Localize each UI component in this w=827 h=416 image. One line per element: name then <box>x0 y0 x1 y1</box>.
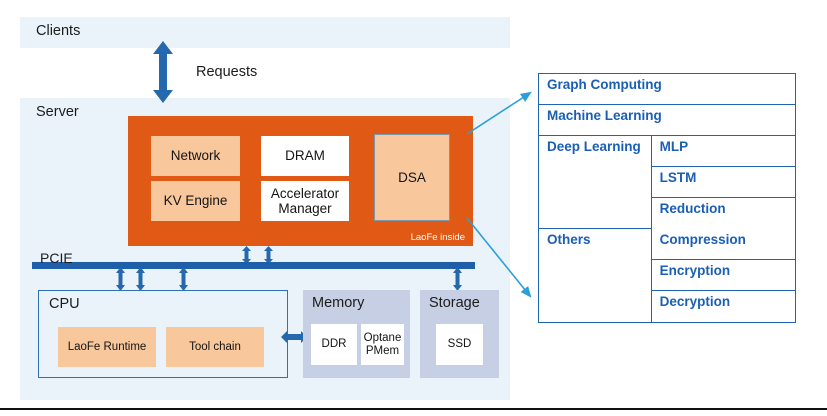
block-laofe-runtime: LaoFe Runtime <box>58 327 156 367</box>
block-accelerator-manager: Accelerator Manager <box>261 181 349 221</box>
bottom-divider <box>0 408 827 410</box>
block-kv-engine: KV Engine <box>151 181 240 221</box>
storage-box: Storage SSD <box>420 290 499 378</box>
cap-group-deep-learning: Deep Learning <box>539 136 652 229</box>
block-dram: DRAM <box>261 136 349 176</box>
cap-compression: Compression <box>652 229 795 260</box>
table-row: Deep Learning MLP LSTM Reduction <box>539 136 795 229</box>
server-label: Server <box>36 104 79 120</box>
cap-group-deep-learning-items: MLP LSTM Reduction <box>652 136 795 229</box>
block-ssd: SSD <box>436 324 483 365</box>
table-row: Graph Computing <box>539 74 795 105</box>
cap-machine-learning: Machine Learning <box>539 105 795 136</box>
storage-label: Storage <box>429 295 480 311</box>
cap-group-others-items: Compression Encryption Decryption <box>652 229 795 322</box>
requests-arrow-icon <box>152 41 174 103</box>
cap-graph-computing: Graph Computing <box>539 74 795 105</box>
clients-band <box>20 17 510 48</box>
block-optane-pmem: Optane PMem <box>361 324 404 365</box>
bus-arrow-cpu-1-icon <box>115 267 126 291</box>
requests-label: Requests <box>196 64 257 80</box>
laofe-inside-label: LaoFe inside <box>411 232 465 243</box>
laofe-server-box: Network KV Engine DRAM Accelerator Manag… <box>128 116 473 246</box>
bus-arrow-cpu-2-icon <box>135 267 146 291</box>
cap-decryption: Decryption <box>652 291 795 322</box>
cap-group-others: Others <box>539 229 652 322</box>
cpu-label: CPU <box>49 296 80 312</box>
pcie-label: PCIE <box>40 250 73 266</box>
bus-arrow-storage-icon <box>452 267 463 291</box>
table-row: Machine Learning <box>539 105 795 136</box>
block-tool-chain: Tool chain <box>166 327 264 367</box>
cpu-box: CPU LaoFe Runtime Tool chain <box>38 290 288 378</box>
block-network: Network <box>151 136 240 176</box>
cap-reduction: Reduction <box>652 198 795 229</box>
cap-encryption: Encryption <box>652 260 795 291</box>
block-dsa: DSA <box>374 134 450 221</box>
cap-mlp: MLP <box>652 136 795 167</box>
pcie-bus <box>32 262 475 269</box>
clients-label: Clients <box>36 23 80 39</box>
capability-table: Graph Computing Machine Learning Deep Le… <box>538 73 796 323</box>
table-row: Others Compression Encryption Decryption <box>539 229 795 322</box>
memory-label: Memory <box>312 295 364 311</box>
cap-lstm: LSTM <box>652 167 795 198</box>
architecture-diagram: Clients Server Requests Network KV Engin… <box>0 0 827 416</box>
bus-arrow-cpu-3-icon <box>178 267 189 291</box>
memory-box: Memory DDR Optane PMem <box>303 290 410 378</box>
block-ddr: DDR <box>311 324 357 365</box>
